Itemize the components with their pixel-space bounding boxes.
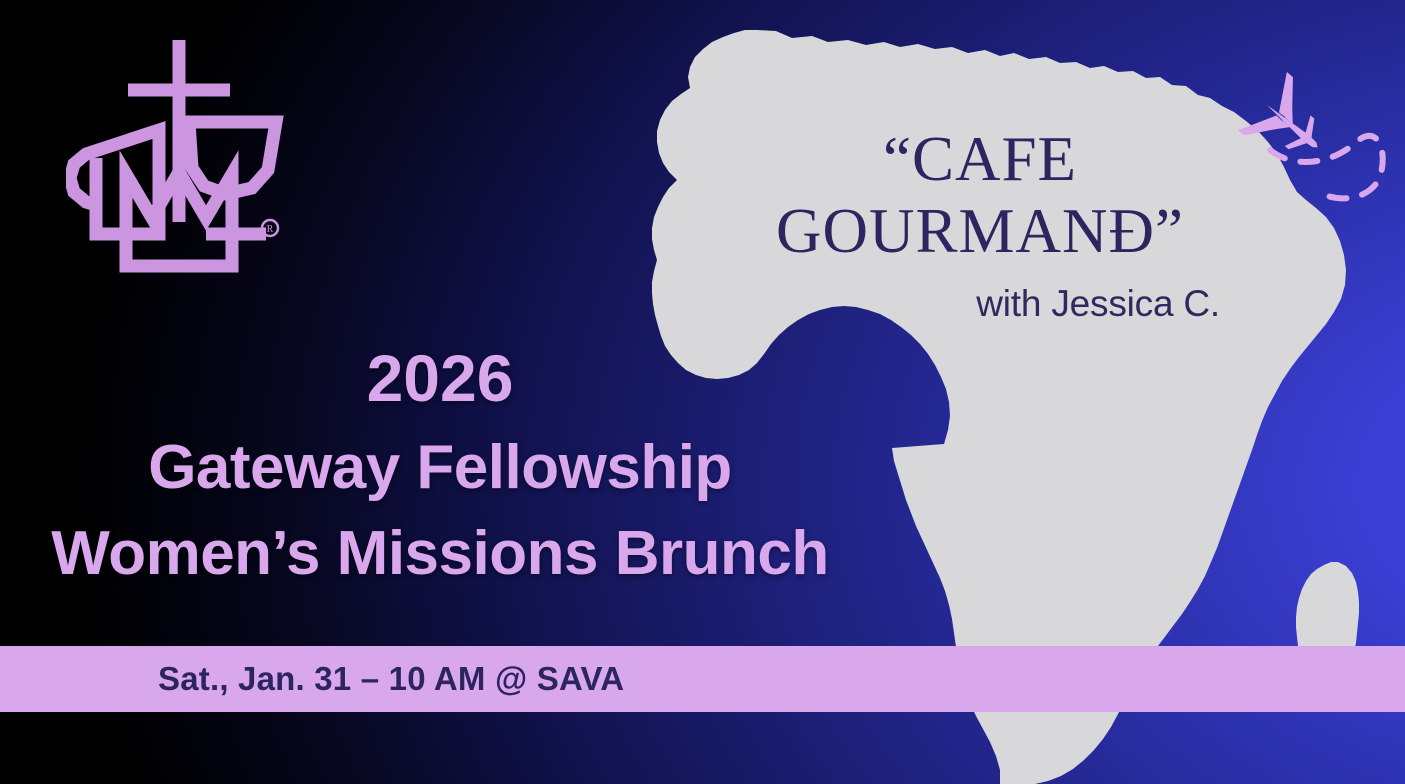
feature-word-gourmand: GOURMANÐ bbox=[776, 196, 1155, 266]
event-title-line-1: Gateway Fellowship bbox=[0, 425, 880, 511]
flight-path-dashed bbox=[1270, 136, 1383, 198]
event-title-line-2: Women’s Missions Brunch bbox=[0, 511, 880, 597]
headline-block: 2026 Gateway Fellowship Women’s Missions… bbox=[0, 345, 880, 596]
feature-title-line-2: GOURMANÐ” bbox=[700, 197, 1260, 265]
date-banner: Sat., Jan. 31 – 10 AM @ SAVA bbox=[0, 646, 1405, 712]
wmu-logo: R bbox=[66, 22, 296, 287]
feature-block: “CAFE GOURMANÐ” with Jessica C. bbox=[700, 125, 1260, 325]
feature-word-cafe: CAFE bbox=[912, 124, 1077, 194]
feature-title-line-1: “CAFE bbox=[700, 125, 1260, 193]
open-quote: “ bbox=[883, 124, 912, 194]
event-datetime-location: Sat., Jan. 31 – 10 AM @ SAVA bbox=[158, 660, 624, 698]
event-year: 2026 bbox=[0, 345, 880, 411]
wmu-emblem-icon: R bbox=[66, 22, 296, 287]
feature-presenter: with Jessica C. bbox=[700, 283, 1260, 325]
close-quote: ” bbox=[1155, 196, 1184, 266]
svg-text:R: R bbox=[267, 224, 274, 235]
event-flyer: R 2026 Gateway Fellowship Women’s Missio… bbox=[0, 0, 1405, 784]
